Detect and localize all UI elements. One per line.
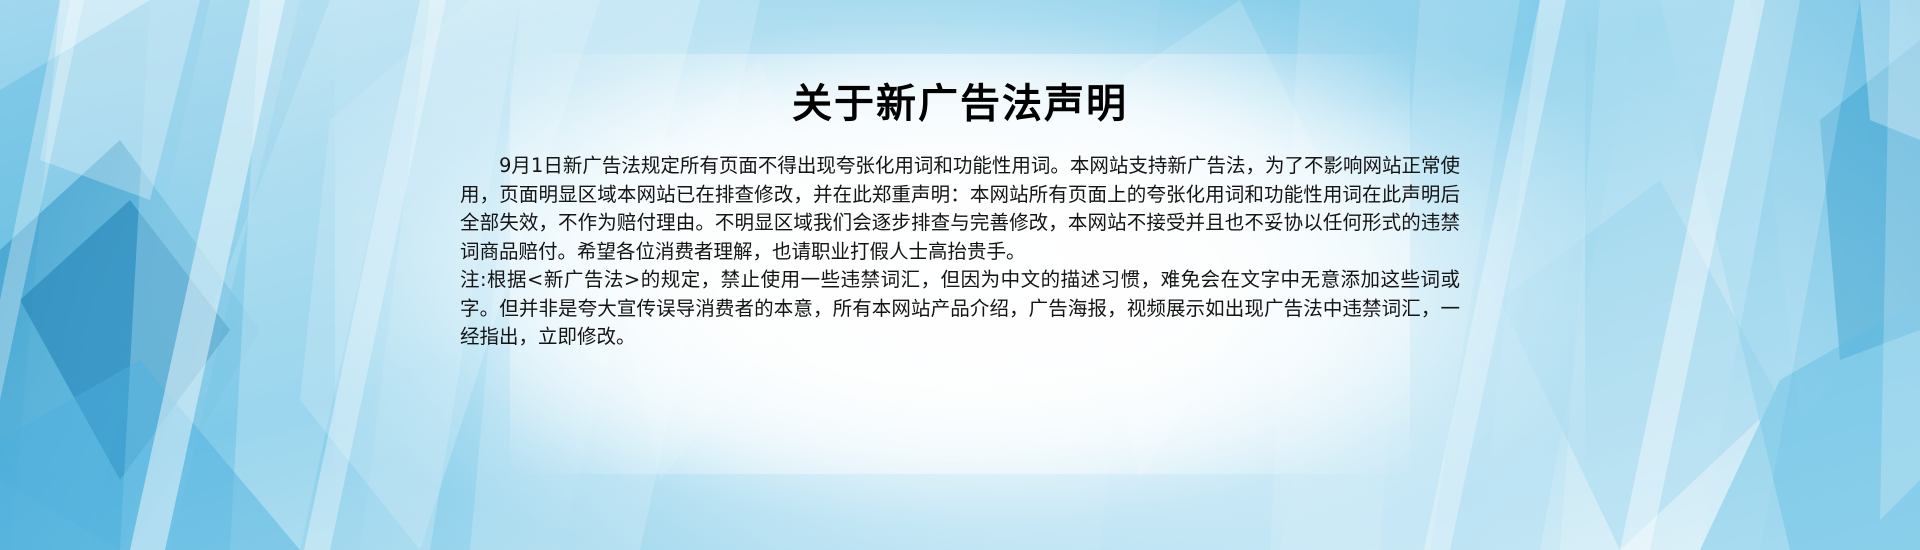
- page-title: 关于新广告法声明: [792, 82, 1128, 126]
- statement-paragraph-2: 注:根据<新广告法>的规定，禁止使用一些违禁词汇，但因为中文的描述习惯，难免会在…: [460, 266, 1460, 352]
- advertising-law-statement-banner: 关于新广告法声明 9月1日新广告法规定所有页面不得出现夸张化用词和功能性用词。本…: [0, 0, 1920, 550]
- statement-body: 9月1日新广告法规定所有页面不得出现夸张化用词和功能性用词。本网站支持新广告法，…: [460, 152, 1460, 352]
- statement-content: 关于新广告法声明 9月1日新广告法规定所有页面不得出现夸张化用词和功能性用词。本…: [0, 0, 1920, 550]
- statement-paragraph-1: 9月1日新广告法规定所有页面不得出现夸张化用词和功能性用词。本网站支持新广告法，…: [460, 152, 1460, 266]
